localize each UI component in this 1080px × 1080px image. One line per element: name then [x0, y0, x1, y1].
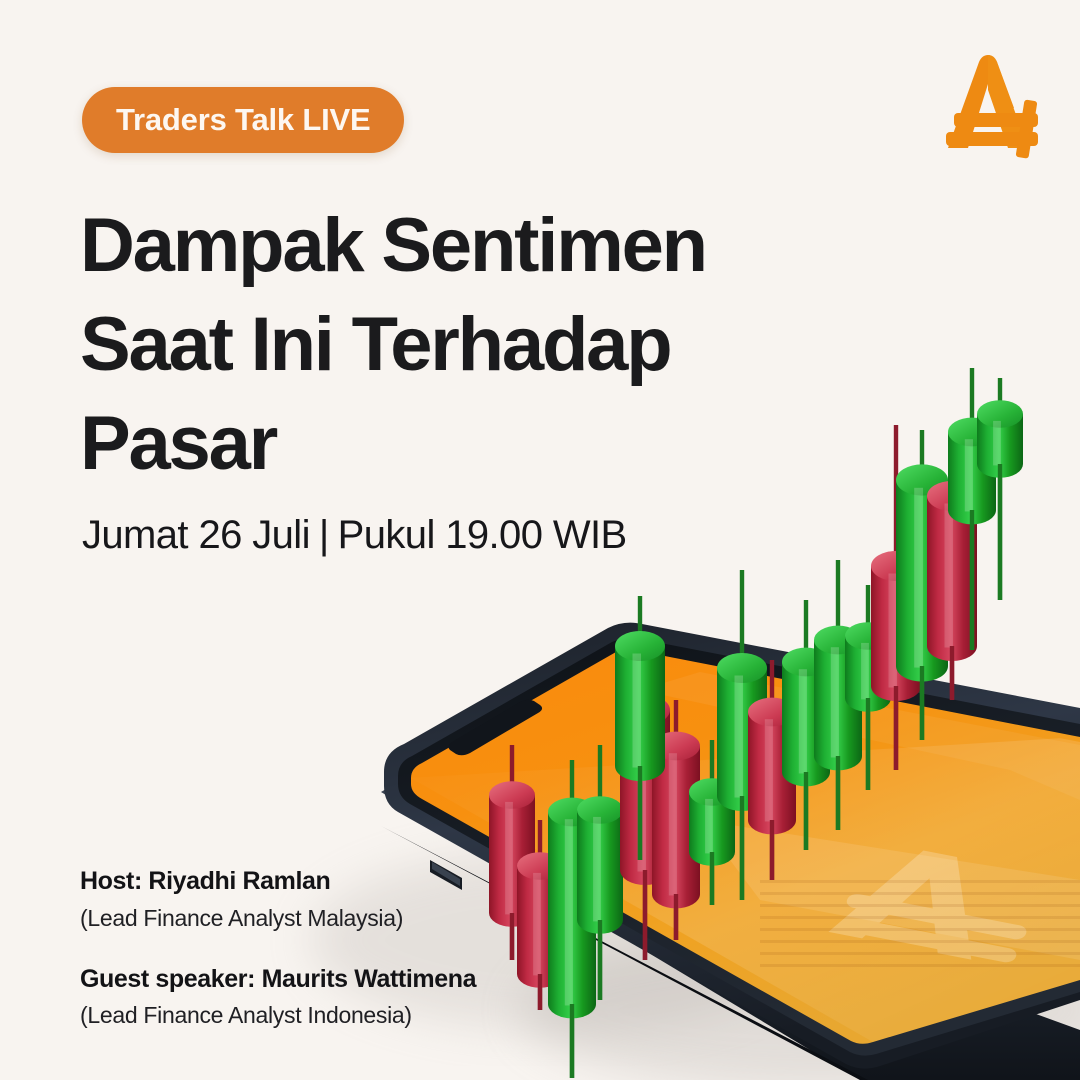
- headline-line-1: Dampak Sentimen: [80, 196, 780, 295]
- page-title: Dampak Sentimen Saat Ini Terhadap Pasar: [80, 196, 780, 493]
- credits-block: Host: Riyadhi Ramlan (Lead Finance Analy…: [80, 866, 600, 1031]
- live-badge[interactable]: Traders Talk LIVE: [82, 87, 404, 153]
- host-role: (Lead Finance Analyst Malaysia): [80, 903, 600, 934]
- guest-name: Guest speaker: Maurits Wattimena: [80, 964, 600, 996]
- headline-line-3: Pasar: [80, 394, 780, 493]
- headline-line-2: Saat Ini Terhadap: [80, 295, 780, 394]
- host-name: Host: Riyadhi Ramlan: [80, 866, 600, 898]
- guest-role: (Lead Finance Analyst Indonesia): [80, 1000, 600, 1031]
- event-time: Pukul 19.00 WIB: [338, 513, 627, 557]
- poster-canvas: Traders Talk LIVE Dampak Sentimen Saat I…: [0, 0, 1080, 1080]
- brand-a-logo: [932, 52, 1044, 160]
- live-badge-label: Traders Talk LIVE: [116, 102, 370, 138]
- guest-credit: Guest speaker: Maurits Wattimena (Lead F…: [80, 964, 600, 1032]
- event-date: Jumat 26 Juli: [82, 513, 310, 557]
- event-schedule: Jumat 26 Juli|Pukul 19.00 WIB: [82, 513, 627, 558]
- schedule-separator: |: [310, 513, 338, 557]
- host-credit: Host: Riyadhi Ramlan (Lead Finance Analy…: [80, 866, 600, 934]
